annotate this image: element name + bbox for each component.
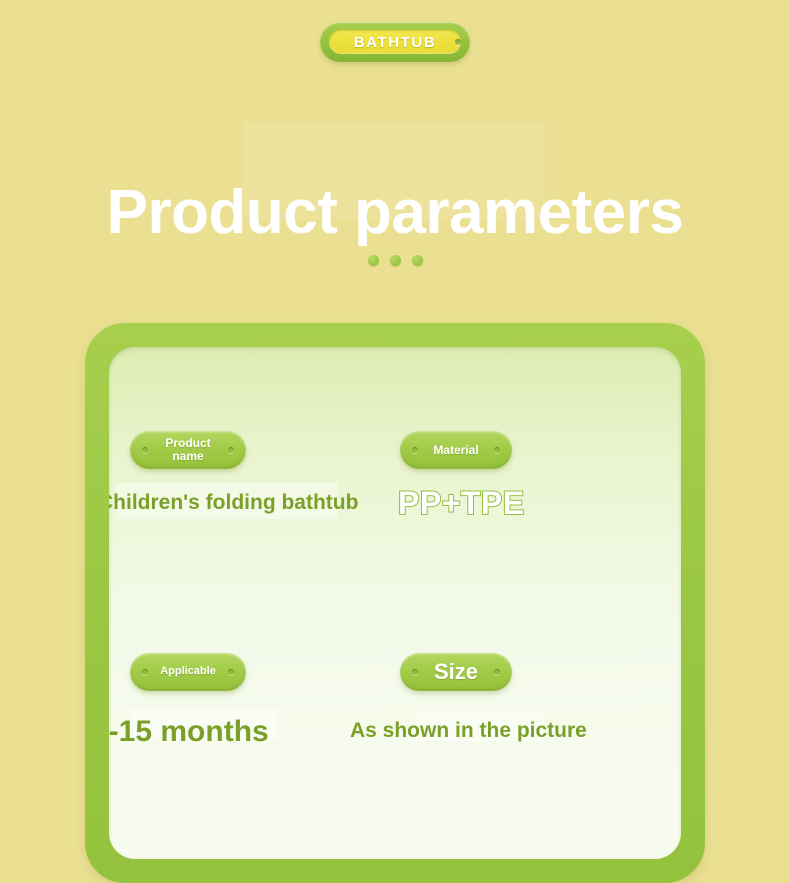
parameter-value-text: 0-15 months (109, 715, 269, 748)
pill-nub-icon-left (412, 447, 418, 453)
bathtub-badge-inner: BATHTUB (329, 30, 461, 54)
parameter-value-material: PP+TPE (398, 485, 525, 522)
label-pill-material: Material (400, 431, 512, 469)
pill-nub-icon-left (142, 447, 148, 453)
bathtub-badge-label: BATHTUB (354, 34, 437, 51)
pill-nub-icon-left (412, 669, 418, 675)
parameter-cell-size: Size As shown in the picture (400, 653, 587, 743)
parameter-cell-applicable: Applicable 0-15 months (130, 653, 269, 749)
parameter-value-applicable: 0-15 months (109, 715, 269, 749)
parameter-value-text: Children's folding bathtub (109, 491, 358, 514)
label-pill-text: Size (434, 660, 478, 684)
label-pill-text: Productname (165, 437, 210, 463)
parameter-value-text: PP+TPE (398, 485, 525, 521)
separator-dot-icon (390, 255, 401, 266)
separator-dots (0, 255, 790, 266)
pill-nub-icon-right (228, 669, 234, 675)
pill-nub-icon-right (228, 447, 234, 453)
bathtub-badge-wrapper: BATHTUB (0, 22, 790, 62)
parameter-value-product-name: Children's folding bathtub (109, 491, 358, 515)
pill-nub-icon-right (494, 669, 500, 675)
parameters-card-panel: Productname Children's folding bathtub M… (109, 347, 681, 859)
label-pill-line-2: name (172, 449, 203, 463)
label-pill-text: Applicable (160, 666, 216, 678)
separator-dot-icon (368, 255, 379, 266)
bathtub-badge: BATHTUB (320, 22, 470, 62)
parameter-value-text: As shown in the picture (350, 719, 587, 742)
label-pill-product-name: Productname (130, 431, 246, 469)
page-title: Product parameters (0, 182, 790, 244)
label-pill-size: Size (400, 653, 512, 691)
parameter-cell-product-name: Productname Children's folding bathtub (130, 431, 358, 515)
label-pill-applicable: Applicable (130, 653, 246, 691)
parameter-cell-material: Material PP+TPE (400, 431, 525, 522)
parameters-card: Productname Children's folding bathtub M… (85, 323, 705, 883)
parameter-value-size: As shown in the picture (350, 719, 587, 743)
pill-nub-icon-right (494, 447, 500, 453)
label-pill-line-1: Product (165, 436, 210, 450)
badge-dot-icon-right (455, 39, 461, 45)
label-pill-text: Material (433, 444, 478, 457)
separator-dot-icon (412, 255, 423, 266)
pill-nub-icon-left (142, 669, 148, 675)
